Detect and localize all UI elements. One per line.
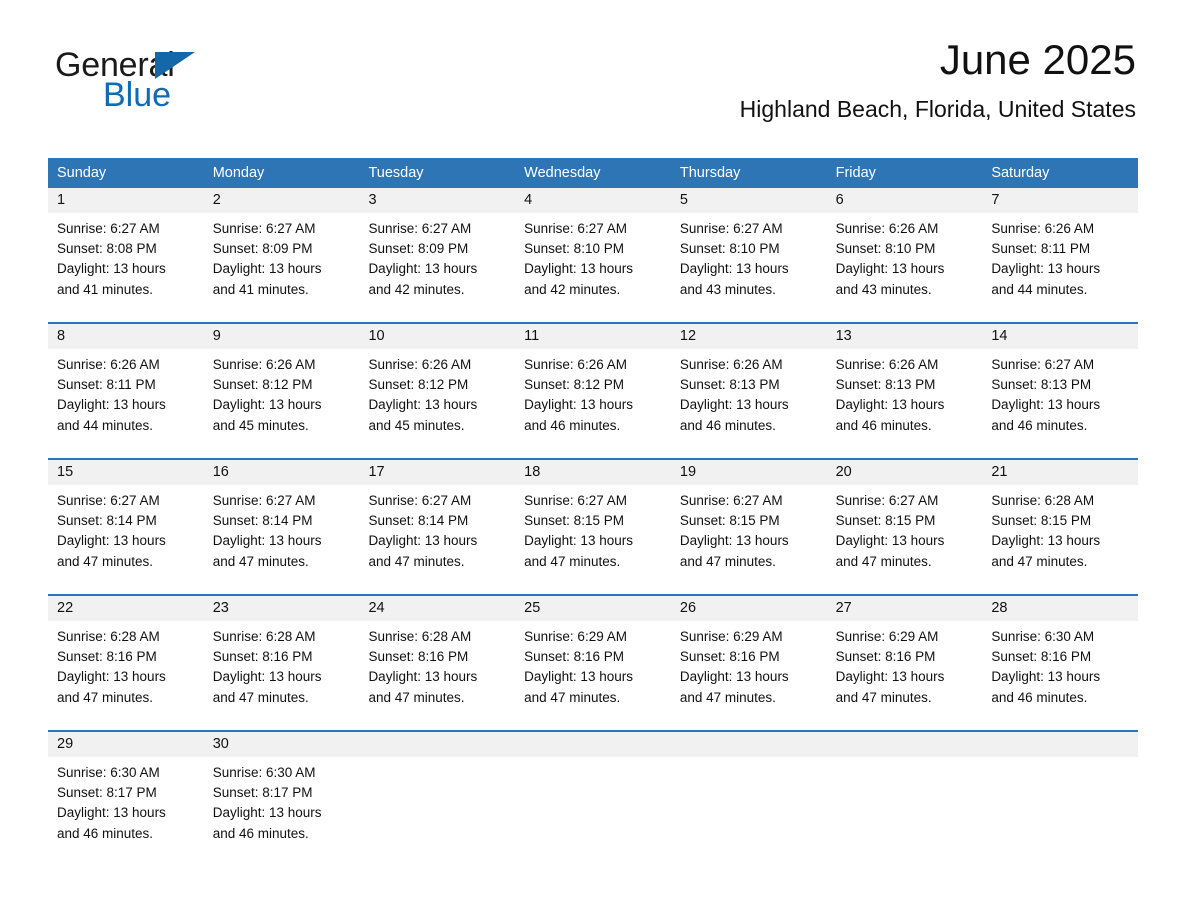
sunset-text: Sunset: 8:10 PM — [836, 239, 974, 259]
day-cell[interactable]: 13 Sunrise: 6:26 AM Sunset: 8:13 PM Dayl… — [827, 324, 983, 458]
day-number: 18 — [515, 460, 671, 485]
day-cell[interactable]: 21 Sunrise: 6:28 AM Sunset: 8:15 PM Dayl… — [982, 460, 1138, 594]
day-number: 3 — [359, 188, 515, 213]
sunset-text: Sunset: 8:09 PM — [368, 239, 506, 259]
sunrise-text: Sunrise: 6:27 AM — [991, 355, 1129, 375]
daylight-text-line1: Daylight: 13 hours — [680, 259, 818, 279]
day-number: 21 — [982, 460, 1138, 485]
day-number: 27 — [827, 596, 983, 621]
day-details: Sunrise: 6:27 AM Sunset: 8:08 PM Dayligh… — [48, 213, 204, 300]
sunset-text: Sunset: 8:16 PM — [991, 647, 1129, 667]
day-cell-empty — [982, 732, 1138, 866]
sunset-text: Sunset: 8:16 PM — [213, 647, 351, 667]
day-details: Sunrise: 6:26 AM Sunset: 8:12 PM Dayligh… — [515, 349, 671, 436]
sunset-text: Sunset: 8:09 PM — [213, 239, 351, 259]
daylight-text-line2: and 45 minutes. — [213, 416, 351, 436]
day-cell[interactable]: 24 Sunrise: 6:28 AM Sunset: 8:16 PM Dayl… — [359, 596, 515, 730]
day-number: 28 — [982, 596, 1138, 621]
daylight-text-line2: and 47 minutes. — [836, 688, 974, 708]
day-number: 24 — [359, 596, 515, 621]
sunset-text: Sunset: 8:13 PM — [680, 375, 818, 395]
sunset-text: Sunset: 8:15 PM — [680, 511, 818, 531]
day-details: Sunrise: 6:29 AM Sunset: 8:16 PM Dayligh… — [515, 621, 671, 708]
daylight-text-line1: Daylight: 13 hours — [57, 395, 195, 415]
week-row: 29 Sunrise: 6:30 AM Sunset: 8:17 PM Dayl… — [48, 730, 1138, 866]
sunset-text: Sunset: 8:10 PM — [680, 239, 818, 259]
daylight-text-line1: Daylight: 13 hours — [213, 667, 351, 687]
day-cell[interactable]: 23 Sunrise: 6:28 AM Sunset: 8:16 PM Dayl… — [204, 596, 360, 730]
sunrise-text: Sunrise: 6:30 AM — [213, 763, 351, 783]
day-number: 7 — [982, 188, 1138, 213]
sunrise-text: Sunrise: 6:27 AM — [680, 219, 818, 239]
sunrise-text: Sunrise: 6:26 AM — [680, 355, 818, 375]
calendar-grid: Sunday Monday Tuesday Wednesday Thursday… — [48, 158, 1138, 866]
day-details: Sunrise: 6:30 AM Sunset: 8:17 PM Dayligh… — [48, 757, 204, 844]
daylight-text-line2: and 43 minutes. — [836, 280, 974, 300]
day-number: 17 — [359, 460, 515, 485]
day-cell[interactable]: 2 Sunrise: 6:27 AM Sunset: 8:09 PM Dayli… — [204, 188, 360, 322]
daylight-text-line1: Daylight: 13 hours — [57, 803, 195, 823]
sunrise-text: Sunrise: 6:26 AM — [524, 355, 662, 375]
daylight-text-line1: Daylight: 13 hours — [213, 395, 351, 415]
day-cell[interactable]: 5 Sunrise: 6:27 AM Sunset: 8:10 PM Dayli… — [671, 188, 827, 322]
daylight-text-line1: Daylight: 13 hours — [991, 667, 1129, 687]
day-details — [827, 757, 983, 763]
sunset-text: Sunset: 8:14 PM — [368, 511, 506, 531]
sunrise-text: Sunrise: 6:27 AM — [368, 491, 506, 511]
day-details: Sunrise: 6:30 AM Sunset: 8:16 PM Dayligh… — [982, 621, 1138, 708]
sunrise-text: Sunrise: 6:27 AM — [57, 219, 195, 239]
daylight-text-line2: and 47 minutes. — [680, 688, 818, 708]
daylight-text-line2: and 41 minutes. — [213, 280, 351, 300]
daylight-text-line2: and 46 minutes. — [524, 416, 662, 436]
day-details: Sunrise: 6:26 AM Sunset: 8:12 PM Dayligh… — [359, 349, 515, 436]
day-number: 14 — [982, 324, 1138, 349]
daylight-text-line2: and 47 minutes. — [368, 552, 506, 572]
day-details: Sunrise: 6:27 AM Sunset: 8:09 PM Dayligh… — [359, 213, 515, 300]
day-cell[interactable]: 7 Sunrise: 6:26 AM Sunset: 8:11 PM Dayli… — [982, 188, 1138, 322]
day-details — [982, 757, 1138, 763]
sunset-text: Sunset: 8:15 PM — [991, 511, 1129, 531]
sunset-text: Sunset: 8:08 PM — [57, 239, 195, 259]
day-details — [515, 757, 671, 763]
day-cell[interactable]: 20 Sunrise: 6:27 AM Sunset: 8:15 PM Dayl… — [827, 460, 983, 594]
daylight-text-line2: and 47 minutes. — [57, 552, 195, 572]
day-details: Sunrise: 6:27 AM Sunset: 8:09 PM Dayligh… — [204, 213, 360, 300]
day-cell[interactable]: 26 Sunrise: 6:29 AM Sunset: 8:16 PM Dayl… — [671, 596, 827, 730]
daylight-text-line2: and 47 minutes. — [213, 688, 351, 708]
day-cell[interactable]: 15 Sunrise: 6:27 AM Sunset: 8:14 PM Dayl… — [48, 460, 204, 594]
day-number: 9 — [204, 324, 360, 349]
day-cell[interactable]: 3 Sunrise: 6:27 AM Sunset: 8:09 PM Dayli… — [359, 188, 515, 322]
daylight-text-line2: and 46 minutes. — [213, 824, 351, 844]
daylight-text-line2: and 46 minutes. — [680, 416, 818, 436]
daylight-text-line1: Daylight: 13 hours — [836, 259, 974, 279]
weekday-header-wednesday: Wednesday — [515, 158, 671, 188]
sunset-text: Sunset: 8:16 PM — [680, 647, 818, 667]
week-row: 1 Sunrise: 6:27 AM Sunset: 8:08 PM Dayli… — [48, 188, 1138, 322]
day-details: Sunrise: 6:27 AM Sunset: 8:14 PM Dayligh… — [204, 485, 360, 572]
day-details: Sunrise: 6:29 AM Sunset: 8:16 PM Dayligh… — [827, 621, 983, 708]
sunset-text: Sunset: 8:16 PM — [524, 647, 662, 667]
sunset-text: Sunset: 8:15 PM — [524, 511, 662, 531]
sunset-text: Sunset: 8:12 PM — [368, 375, 506, 395]
day-details: Sunrise: 6:27 AM Sunset: 8:15 PM Dayligh… — [827, 485, 983, 572]
sunrise-text: Sunrise: 6:26 AM — [836, 219, 974, 239]
daylight-text-line2: and 47 minutes. — [524, 552, 662, 572]
daylight-text-line1: Daylight: 13 hours — [680, 395, 818, 415]
day-details — [359, 757, 515, 763]
day-details: Sunrise: 6:26 AM Sunset: 8:10 PM Dayligh… — [827, 213, 983, 300]
week-row: 22 Sunrise: 6:28 AM Sunset: 8:16 PM Dayl… — [48, 594, 1138, 730]
weekday-header-thursday: Thursday — [671, 158, 827, 188]
sunrise-text: Sunrise: 6:28 AM — [368, 627, 506, 647]
day-number: 22 — [48, 596, 204, 621]
day-cell-empty — [359, 732, 515, 866]
weekday-header-row: Sunday Monday Tuesday Wednesday Thursday… — [48, 158, 1138, 188]
sunrise-text: Sunrise: 6:29 AM — [680, 627, 818, 647]
daylight-text-line2: and 47 minutes. — [213, 552, 351, 572]
day-cell[interactable]: 22 Sunrise: 6:28 AM Sunset: 8:16 PM Dayl… — [48, 596, 204, 730]
day-details: Sunrise: 6:30 AM Sunset: 8:17 PM Dayligh… — [204, 757, 360, 844]
sunrise-text: Sunrise: 6:29 AM — [524, 627, 662, 647]
day-number: 15 — [48, 460, 204, 485]
week-row: 15 Sunrise: 6:27 AM Sunset: 8:14 PM Dayl… — [48, 458, 1138, 594]
weekday-header-tuesday: Tuesday — [359, 158, 515, 188]
day-cell[interactable]: 16 Sunrise: 6:27 AM Sunset: 8:14 PM Dayl… — [204, 460, 360, 594]
day-details: Sunrise: 6:28 AM Sunset: 8:15 PM Dayligh… — [982, 485, 1138, 572]
day-number: 29 — [48, 732, 204, 757]
day-details: Sunrise: 6:28 AM Sunset: 8:16 PM Dayligh… — [48, 621, 204, 708]
day-cell[interactable]: 18 Sunrise: 6:27 AM Sunset: 8:15 PM Dayl… — [515, 460, 671, 594]
day-cell[interactable]: 29 Sunrise: 6:30 AM Sunset: 8:17 PM Dayl… — [48, 732, 204, 866]
sunset-text: Sunset: 8:14 PM — [213, 511, 351, 531]
day-cell[interactable]: 27 Sunrise: 6:29 AM Sunset: 8:16 PM Dayl… — [827, 596, 983, 730]
page-subtitle: Highland Beach, Florida, United States — [740, 96, 1136, 123]
daylight-text-line1: Daylight: 13 hours — [524, 395, 662, 415]
day-number: 16 — [204, 460, 360, 485]
brand-name-blue: Blue — [103, 78, 171, 112]
day-number: 6 — [827, 188, 983, 213]
daylight-text-line1: Daylight: 13 hours — [213, 531, 351, 551]
day-number: 1 — [48, 188, 204, 213]
sunset-text: Sunset: 8:16 PM — [836, 647, 974, 667]
day-number: 12 — [671, 324, 827, 349]
day-cell[interactable]: 12 Sunrise: 6:26 AM Sunset: 8:13 PM Dayl… — [671, 324, 827, 458]
day-number: 23 — [204, 596, 360, 621]
sunrise-text: Sunrise: 6:27 AM — [213, 219, 351, 239]
weekday-header-monday: Monday — [204, 158, 360, 188]
sunset-text: Sunset: 8:14 PM — [57, 511, 195, 531]
sunrise-text: Sunrise: 6:29 AM — [836, 627, 974, 647]
day-cell-empty — [515, 732, 671, 866]
daylight-text-line2: and 43 minutes. — [680, 280, 818, 300]
day-number: 19 — [671, 460, 827, 485]
weekday-header-sunday: Sunday — [48, 158, 204, 188]
day-details: Sunrise: 6:27 AM Sunset: 8:13 PM Dayligh… — [982, 349, 1138, 436]
sunrise-text: Sunrise: 6:27 AM — [524, 219, 662, 239]
sunset-text: Sunset: 8:12 PM — [213, 375, 351, 395]
daylight-text-line1: Daylight: 13 hours — [368, 395, 506, 415]
daylight-text-line2: and 44 minutes. — [991, 280, 1129, 300]
sunrise-text: Sunrise: 6:30 AM — [57, 763, 195, 783]
sunset-text: Sunset: 8:12 PM — [524, 375, 662, 395]
sunset-text: Sunset: 8:11 PM — [991, 239, 1129, 259]
day-cell[interactable]: 17 Sunrise: 6:27 AM Sunset: 8:14 PM Dayl… — [359, 460, 515, 594]
day-number: 5 — [671, 188, 827, 213]
sunset-text: Sunset: 8:16 PM — [368, 647, 506, 667]
sunset-text: Sunset: 8:15 PM — [836, 511, 974, 531]
daylight-text-line2: and 47 minutes. — [836, 552, 974, 572]
day-details: Sunrise: 6:26 AM Sunset: 8:13 PM Dayligh… — [671, 349, 827, 436]
daylight-text-line1: Daylight: 13 hours — [680, 531, 818, 551]
sunrise-text: Sunrise: 6:26 AM — [368, 355, 506, 375]
day-number — [359, 732, 515, 757]
daylight-text-line1: Daylight: 13 hours — [368, 531, 506, 551]
daylight-text-line1: Daylight: 13 hours — [524, 667, 662, 687]
daylight-text-line2: and 47 minutes. — [680, 552, 818, 572]
daylight-text-line2: and 47 minutes. — [57, 688, 195, 708]
day-details: Sunrise: 6:27 AM Sunset: 8:10 PM Dayligh… — [515, 213, 671, 300]
daylight-text-line2: and 44 minutes. — [57, 416, 195, 436]
daylight-text-line2: and 46 minutes. — [991, 688, 1129, 708]
weekday-header-friday: Friday — [827, 158, 983, 188]
day-cell[interactable]: 11 Sunrise: 6:26 AM Sunset: 8:12 PM Dayl… — [515, 324, 671, 458]
sunset-text: Sunset: 8:13 PM — [991, 375, 1129, 395]
day-details: Sunrise: 6:27 AM Sunset: 8:10 PM Dayligh… — [671, 213, 827, 300]
daylight-text-line1: Daylight: 13 hours — [991, 259, 1129, 279]
day-details: Sunrise: 6:28 AM Sunset: 8:16 PM Dayligh… — [359, 621, 515, 708]
title-block: June 2025 Highland Beach, Florida, Unite… — [740, 38, 1136, 123]
day-cell[interactable]: 8 Sunrise: 6:26 AM Sunset: 8:11 PM Dayli… — [48, 324, 204, 458]
day-number: 10 — [359, 324, 515, 349]
page-header: General Blue June 2025 Highland Beach, F… — [0, 0, 1188, 112]
sunrise-text: Sunrise: 6:26 AM — [836, 355, 974, 375]
sunset-text: Sunset: 8:11 PM — [57, 375, 195, 395]
daylight-text-line2: and 42 minutes. — [368, 280, 506, 300]
day-details: Sunrise: 6:26 AM Sunset: 8:13 PM Dayligh… — [827, 349, 983, 436]
sunrise-text: Sunrise: 6:28 AM — [991, 491, 1129, 511]
day-cell[interactable]: 28 Sunrise: 6:30 AM Sunset: 8:16 PM Dayl… — [982, 596, 1138, 730]
day-number — [982, 732, 1138, 757]
sunrise-text: Sunrise: 6:30 AM — [991, 627, 1129, 647]
day-cell[interactable]: 4 Sunrise: 6:27 AM Sunset: 8:10 PM Dayli… — [515, 188, 671, 322]
day-details: Sunrise: 6:26 AM Sunset: 8:12 PM Dayligh… — [204, 349, 360, 436]
day-details: Sunrise: 6:26 AM Sunset: 8:11 PM Dayligh… — [982, 213, 1138, 300]
daylight-text-line1: Daylight: 13 hours — [524, 259, 662, 279]
day-number — [671, 732, 827, 757]
sunrise-text: Sunrise: 6:26 AM — [57, 355, 195, 375]
sunrise-text: Sunrise: 6:28 AM — [213, 627, 351, 647]
daylight-text-line2: and 46 minutes. — [836, 416, 974, 436]
daylight-text-line1: Daylight: 13 hours — [991, 395, 1129, 415]
day-number: 8 — [48, 324, 204, 349]
day-details: Sunrise: 6:27 AM Sunset: 8:15 PM Dayligh… — [671, 485, 827, 572]
day-cell[interactable]: 30 Sunrise: 6:30 AM Sunset: 8:17 PM Dayl… — [204, 732, 360, 866]
day-cell[interactable]: 1 Sunrise: 6:27 AM Sunset: 8:08 PM Dayli… — [48, 188, 204, 322]
day-details: Sunrise: 6:27 AM Sunset: 8:14 PM Dayligh… — [48, 485, 204, 572]
sunrise-text: Sunrise: 6:26 AM — [213, 355, 351, 375]
sunrise-text: Sunrise: 6:27 AM — [680, 491, 818, 511]
daylight-text-line1: Daylight: 13 hours — [524, 531, 662, 551]
sunrise-text: Sunrise: 6:28 AM — [57, 627, 195, 647]
day-details — [671, 757, 827, 763]
day-number: 11 — [515, 324, 671, 349]
sunset-text: Sunset: 8:16 PM — [57, 647, 195, 667]
day-cell-empty — [827, 732, 983, 866]
sunset-text: Sunset: 8:17 PM — [213, 783, 351, 803]
daylight-text-line2: and 47 minutes. — [991, 552, 1129, 572]
sunset-text: Sunset: 8:13 PM — [836, 375, 974, 395]
daylight-text-line2: and 46 minutes. — [991, 416, 1129, 436]
daylight-text-line2: and 42 minutes. — [524, 280, 662, 300]
daylight-text-line1: Daylight: 13 hours — [836, 395, 974, 415]
daylight-text-line1: Daylight: 13 hours — [57, 667, 195, 687]
day-details: Sunrise: 6:27 AM Sunset: 8:15 PM Dayligh… — [515, 485, 671, 572]
sunset-text: Sunset: 8:17 PM — [57, 783, 195, 803]
day-cell[interactable]: 14 Sunrise: 6:27 AM Sunset: 8:13 PM Dayl… — [982, 324, 1138, 458]
day-number — [827, 732, 983, 757]
day-cell[interactable]: 6 Sunrise: 6:26 AM Sunset: 8:10 PM Dayli… — [827, 188, 983, 322]
day-number — [515, 732, 671, 757]
daylight-text-line1: Daylight: 13 hours — [213, 259, 351, 279]
sunset-text: Sunset: 8:10 PM — [524, 239, 662, 259]
daylight-text-line1: Daylight: 13 hours — [680, 667, 818, 687]
sunrise-text: Sunrise: 6:26 AM — [991, 219, 1129, 239]
day-cell[interactable]: 25 Sunrise: 6:29 AM Sunset: 8:16 PM Dayl… — [515, 596, 671, 730]
day-cell-empty — [671, 732, 827, 866]
daylight-text-line1: Daylight: 13 hours — [57, 531, 195, 551]
brand-logo[interactable]: General Blue — [55, 48, 375, 118]
day-details: Sunrise: 6:29 AM Sunset: 8:16 PM Dayligh… — [671, 621, 827, 708]
daylight-text-line1: Daylight: 13 hours — [57, 259, 195, 279]
daylight-text-line2: and 46 minutes. — [57, 824, 195, 844]
day-number: 26 — [671, 596, 827, 621]
daylight-text-line1: Daylight: 13 hours — [368, 667, 506, 687]
daylight-text-line1: Daylight: 13 hours — [836, 531, 974, 551]
day-number: 30 — [204, 732, 360, 757]
day-number: 25 — [515, 596, 671, 621]
calendar-page: General Blue June 2025 Highland Beach, F… — [0, 0, 1188, 918]
sunrise-text: Sunrise: 6:27 AM — [524, 491, 662, 511]
daylight-text-line2: and 47 minutes. — [368, 688, 506, 708]
day-number: 2 — [204, 188, 360, 213]
day-number: 4 — [515, 188, 671, 213]
day-details: Sunrise: 6:26 AM Sunset: 8:11 PM Dayligh… — [48, 349, 204, 436]
day-cell[interactable]: 9 Sunrise: 6:26 AM Sunset: 8:12 PM Dayli… — [204, 324, 360, 458]
daylight-text-line1: Daylight: 13 hours — [213, 803, 351, 823]
day-details: Sunrise: 6:27 AM Sunset: 8:14 PM Dayligh… — [359, 485, 515, 572]
day-number: 20 — [827, 460, 983, 485]
sunrise-text: Sunrise: 6:27 AM — [57, 491, 195, 511]
day-cell[interactable]: 19 Sunrise: 6:27 AM Sunset: 8:15 PM Dayl… — [671, 460, 827, 594]
daylight-text-line1: Daylight: 13 hours — [991, 531, 1129, 551]
daylight-text-line2: and 45 minutes. — [368, 416, 506, 436]
sunrise-text: Sunrise: 6:27 AM — [213, 491, 351, 511]
daylight-text-line1: Daylight: 13 hours — [836, 667, 974, 687]
daylight-text-line2: and 47 minutes. — [524, 688, 662, 708]
week-row: 8 Sunrise: 6:26 AM Sunset: 8:11 PM Dayli… — [48, 322, 1138, 458]
triangle-flag-icon — [155, 52, 195, 79]
sunrise-text: Sunrise: 6:27 AM — [836, 491, 974, 511]
day-cell[interactable]: 10 Sunrise: 6:26 AM Sunset: 8:12 PM Dayl… — [359, 324, 515, 458]
day-details: Sunrise: 6:28 AM Sunset: 8:16 PM Dayligh… — [204, 621, 360, 708]
page-title: June 2025 — [740, 38, 1136, 82]
weekday-header-saturday: Saturday — [982, 158, 1138, 188]
daylight-text-line1: Daylight: 13 hours — [368, 259, 506, 279]
sunrise-text: Sunrise: 6:27 AM — [368, 219, 506, 239]
daylight-text-line2: and 41 minutes. — [57, 280, 195, 300]
day-number: 13 — [827, 324, 983, 349]
